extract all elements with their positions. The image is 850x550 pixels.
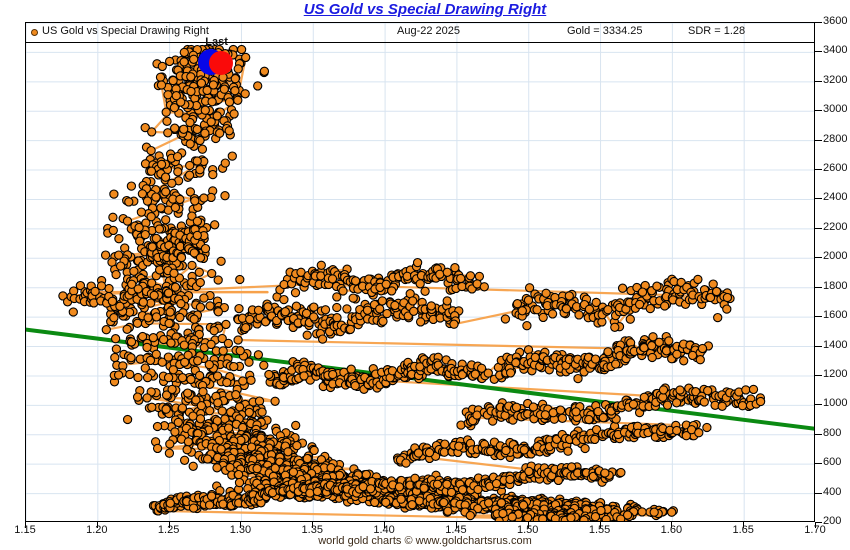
y-tick-mark bbox=[815, 434, 822, 435]
y-tick-mark bbox=[815, 81, 822, 82]
y-tick-mark bbox=[815, 110, 822, 111]
y-tick-label: 3400 bbox=[823, 44, 847, 56]
y-tick-mark bbox=[815, 140, 822, 141]
y-tick-mark bbox=[815, 316, 822, 317]
y-tick-label: 800 bbox=[823, 427, 841, 439]
last-marker-label: Last bbox=[205, 36, 228, 48]
y-tick-label: 400 bbox=[823, 486, 841, 498]
y-tick-mark bbox=[815, 463, 822, 464]
y-tick-label: 2200 bbox=[823, 221, 847, 233]
y-tick-label: 2000 bbox=[823, 250, 847, 262]
y-tick-mark bbox=[815, 493, 822, 494]
y-tick-mark bbox=[815, 375, 822, 376]
y-tick-label: 1800 bbox=[823, 280, 847, 292]
y-tick-label: 600 bbox=[823, 456, 841, 468]
y-tick-mark bbox=[815, 198, 822, 199]
y-tick-label: 1000 bbox=[823, 397, 847, 409]
footer-credit: world gold charts © www.goldchartsrus.co… bbox=[0, 535, 850, 547]
y-tick-mark bbox=[815, 257, 822, 258]
y-tick-label: 3000 bbox=[823, 103, 847, 115]
plot-area[interactable]: US Gold vs Special Drawing Right Aug-22 … bbox=[25, 22, 815, 522]
y-tick-mark bbox=[815, 404, 822, 405]
page-title: US Gold vs Special Drawing Right bbox=[0, 1, 850, 18]
y-tick-mark bbox=[815, 22, 822, 23]
y-tick-label: 1200 bbox=[823, 368, 847, 380]
y-tick-mark bbox=[815, 169, 822, 170]
y-tick-label: 2800 bbox=[823, 133, 847, 145]
y-tick-mark bbox=[815, 228, 822, 229]
chart-page: US Gold vs Special Drawing Right US Gold… bbox=[0, 0, 850, 550]
y-tick-mark bbox=[815, 287, 822, 288]
y-tick-label: 3600 bbox=[823, 15, 847, 27]
y-tick-label: 200 bbox=[823, 515, 841, 527]
y-tick-mark bbox=[815, 346, 822, 347]
y-tick-label: 3200 bbox=[823, 74, 847, 86]
plot-svg bbox=[26, 23, 815, 522]
y-tick-label: 2400 bbox=[823, 191, 847, 203]
y-tick-label: 1400 bbox=[823, 339, 847, 351]
y-tick-mark bbox=[815, 522, 822, 523]
y-tick-label: 1600 bbox=[823, 309, 847, 321]
y-tick-label: 2600 bbox=[823, 162, 847, 174]
y-tick-mark bbox=[815, 51, 822, 52]
